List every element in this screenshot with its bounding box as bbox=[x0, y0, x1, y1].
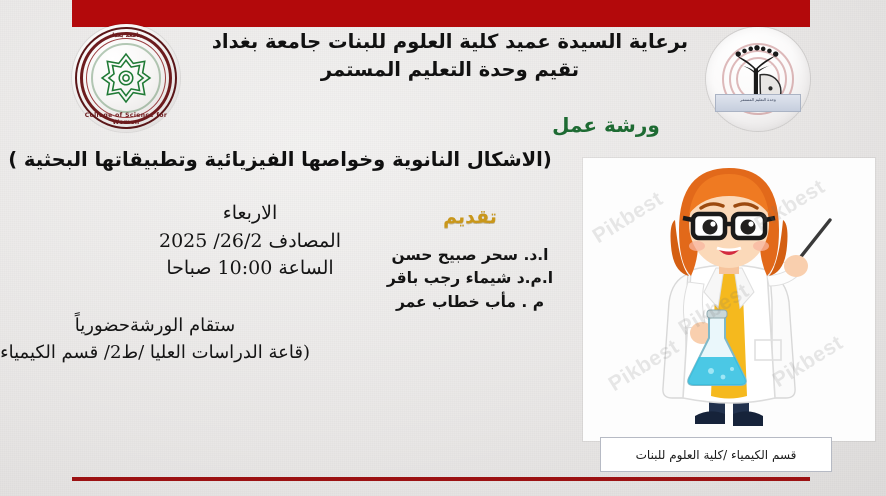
logo-arc-bottom-text: College of Science for Women bbox=[72, 112, 180, 126]
university-of-baghdad-logo: جامعة بغداد College of Science for Women bbox=[72, 24, 180, 132]
header-line-1: برعاية السيدة عميد كلية العلوم للبنات جا… bbox=[190, 28, 710, 56]
venue-block: ستقام الورشةحضورياً (قاعة الدراسات العلي… bbox=[0, 312, 310, 366]
poster-canvas: جامعة بغداد College of Science for Women bbox=[0, 0, 886, 496]
department-label-text: قسم الكيمياء /كلية العلوم للبنات bbox=[636, 448, 797, 462]
female-scientist-cartoon-icon bbox=[583, 158, 875, 441]
department-label-box: قسم الكيمياء /كلية العلوم للبنات bbox=[600, 437, 832, 472]
schedule-time: الساعة 10:00 صباحا bbox=[130, 255, 370, 283]
illustration-panel: Pikbest Pikbest Pikbest Pikbest Pikbest bbox=[583, 158, 875, 441]
schedule-day: الاربعاء bbox=[130, 200, 370, 228]
schedule-date: المصادف 26/2/ 2025 bbox=[130, 228, 370, 256]
logo-arc-top-text: جامعة بغداد bbox=[72, 32, 180, 39]
venue-line-2: (قاعة الدراسات العليا /ط2/ قسم الكيمياء) bbox=[0, 339, 310, 366]
schedule-block: الاربعاء المصادف 26/2/ 2025 الساعة 10:00… bbox=[130, 200, 370, 283]
presenters-list: ا.د. سحر صبيح حسن ا.م.د شيماء رجب باقر م… bbox=[370, 244, 570, 314]
presenters-heading: تقديم bbox=[370, 206, 570, 228]
top-red-banner bbox=[72, 0, 810, 27]
logo-ribbon-text: وحدة التعليم المستمر bbox=[715, 94, 801, 112]
presenter-name: ا.م.د شيماء رجب باقر bbox=[370, 267, 570, 290]
presenter-name: م . مأب خطاب عمر bbox=[370, 291, 570, 314]
poster-header: برعاية السيدة عميد كلية العلوم للبنات جا… bbox=[190, 28, 710, 83]
workshop-kicker: ورشة عمل bbox=[326, 113, 886, 137]
header-line-2: تقيم وحدة التعليم المستمر bbox=[190, 56, 710, 84]
venue-line-1: ستقام الورشةحضورياً bbox=[0, 312, 310, 339]
bottom-red-rule bbox=[72, 477, 810, 481]
octagram-emblem-icon bbox=[100, 52, 152, 104]
workshop-title: (الاشكال النانوية وخواصها الفيزيائية وتط… bbox=[0, 148, 560, 171]
presenter-name: ا.د. سحر صبيح حسن bbox=[370, 244, 570, 267]
